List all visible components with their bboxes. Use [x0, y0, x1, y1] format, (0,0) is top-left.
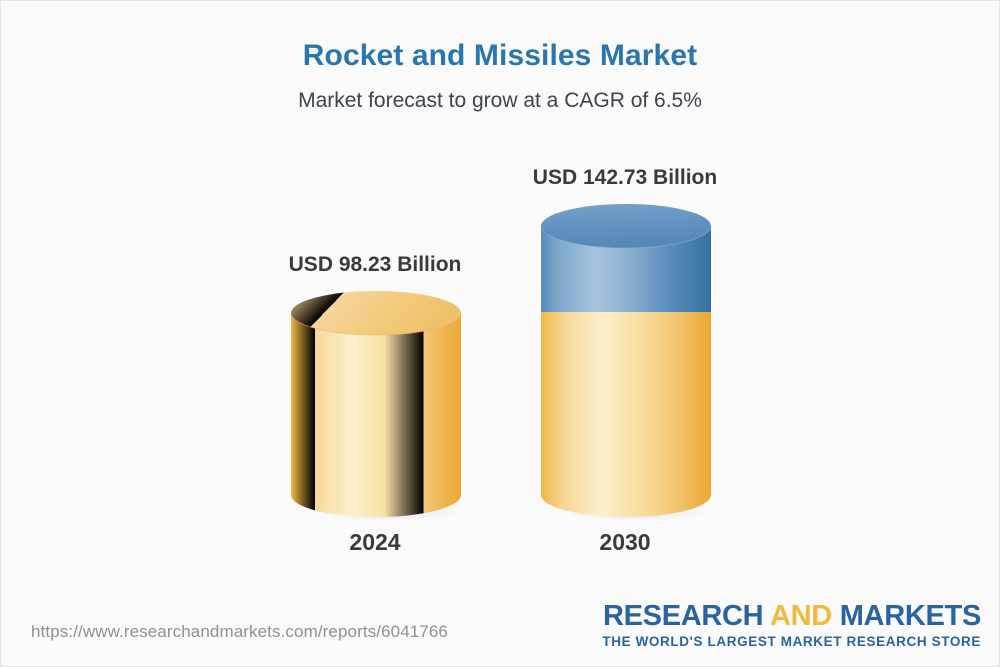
research-and-markets-logo: RESEARCH AND MARKETS THE WORLD'S LARGEST…: [602, 601, 981, 649]
bar-value-label-2024: USD 98.23 Billion: [265, 253, 485, 277]
cylinder-bar-2024: [291, 291, 461, 517]
source-url[interactable]: https://www.researchandmarkets.com/repor…: [31, 622, 448, 642]
chart-plot-area: USD 98.23 Billion: [1, 1, 1000, 601]
cylinder-bar-2030: [541, 204, 711, 517]
bar-value-label-2030: USD 142.73 Billion: [515, 166, 735, 190]
infographic-canvas: Rocket and Missiles Market Market foreca…: [0, 0, 1000, 667]
brand-tagline: THE WORLD'S LARGEST MARKET RESEARCH STOR…: [602, 634, 981, 649]
brand-word-and: AND: [770, 600, 832, 632]
bar-category-label-2024: 2024: [265, 529, 485, 556]
bar-category-label-2030: 2030: [515, 529, 735, 556]
brand-wordmark: RESEARCH AND MARKETS: [602, 601, 981, 631]
brand-word-research: RESEARCH: [603, 600, 763, 632]
brand-word-markets: MARKETS: [840, 600, 981, 632]
